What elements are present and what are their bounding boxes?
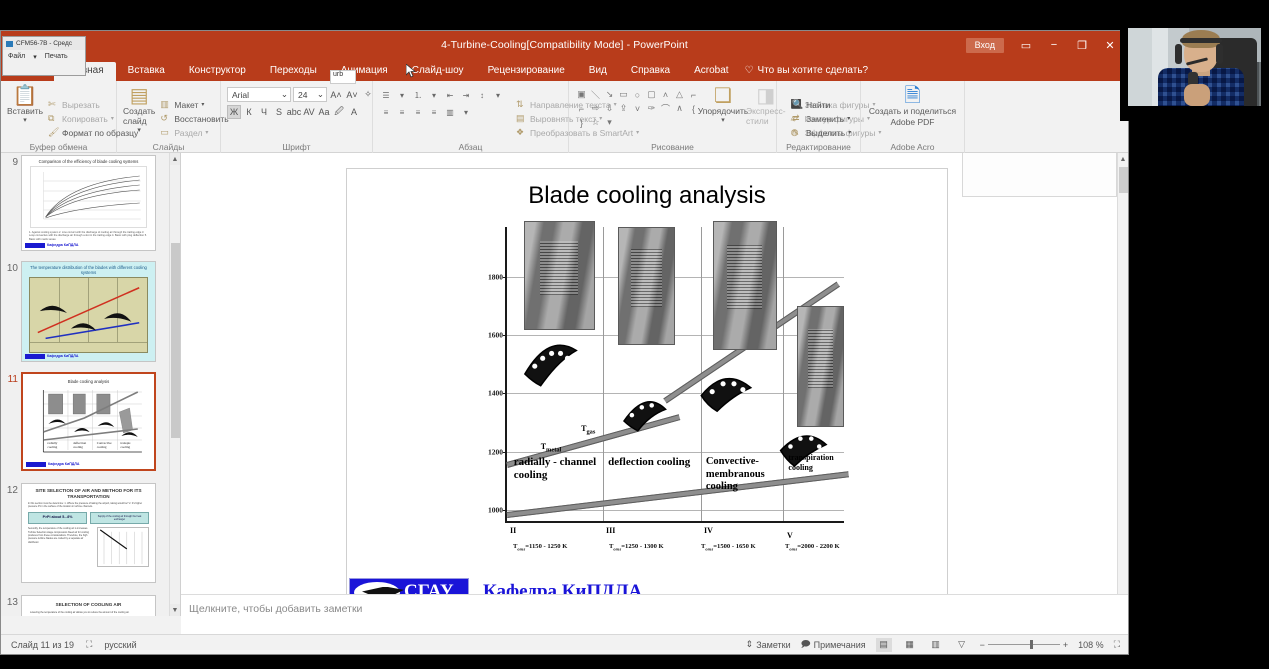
title-bar: 4-Turbine-Cooling[Compatibility Mode] - … (1, 31, 1128, 59)
align-center-icon[interactable]: ≡ (395, 106, 409, 119)
thumbnail-slide[interactable]: The temperature distribution of the blad… (21, 261, 156, 362)
floating-panel[interactable] (962, 153, 1117, 197)
change-case-button[interactable]: Aa (317, 105, 331, 119)
chevron-down-icon: ⌄ (317, 89, 324, 100)
thumbnail-footer-text: Кафедра КиПДЛА (47, 243, 78, 247)
column-heading-1: radially - channel cooling (514, 456, 602, 482)
screen: 4-Turbine-Cooling[Compatibility Mode] - … (0, 0, 1269, 669)
chevron-down-icon[interactable]: ▾ (427, 89, 441, 102)
chevron-down-icon[interactable]: ▾ (33, 53, 37, 61)
slide-editing-pane: Blade cooling analysis 1800 (181, 153, 1128, 616)
thumbnail-footer: Кафедра КиПДЛА (23, 461, 154, 469)
thumbnail-number: 10 (5, 261, 21, 274)
font-family-value: Arial (232, 90, 249, 100)
thumbnail-title: Blade cooling analysis (23, 374, 154, 386)
shape-triangle-icon[interactable]: △ (673, 88, 686, 101)
copy-label: Копировать (62, 114, 108, 124)
thumbnail-footer-text: Кафедра КиПДЛА (48, 462, 79, 466)
thumbnail-chart-icon (29, 277, 148, 353)
slide-scrollbar[interactable]: ▲ ▼ (1117, 153, 1128, 616)
tab-insert[interactable]: Вставка (116, 62, 177, 81)
powerpoint-window: 4-Turbine-Cooling[Compatibility Mode] - … (0, 30, 1129, 655)
cut-label: Вырезать (62, 100, 100, 110)
comments-button[interactable]: 🗩 Примечания (801, 637, 866, 653)
shape-rounded-rect-icon[interactable]: ▢ (645, 88, 658, 101)
x-label-temp-3: Tотл=1500 - 1650 K (701, 543, 756, 551)
chevron-down-icon: ▾ (848, 129, 851, 136)
scissors-icon: ✄ (48, 99, 59, 110)
shapes-scroll-up-icon[interactable]: ˄ (659, 88, 672, 101)
slide-sorter-view-button[interactable]: ▦ (902, 638, 918, 652)
paste-label: Вставить (7, 106, 43, 116)
svg-text:cooling: cooling (73, 445, 83, 449)
reading-view-button[interactable]: ▥ (928, 638, 944, 652)
new-slide-label: Создать слайд (123, 106, 155, 126)
find-label: Найти (806, 100, 830, 110)
svg-text:cooling: cooling (97, 445, 107, 449)
thumbnail-slide-current[interactable]: Blade cooling analysis (21, 372, 156, 471)
sign-in-button[interactable]: Вход (966, 38, 1004, 53)
mouse-cursor (406, 64, 416, 78)
chevron-down-icon[interactable]: ▾ (459, 106, 473, 119)
chevron-down-icon[interactable]: ▾ (491, 89, 505, 102)
current-slide[interactable]: Blade cooling analysis 1800 (347, 169, 947, 616)
adobe-pdf-icon: 🗎 (904, 86, 920, 106)
zoom-track[interactable] (988, 644, 1060, 645)
chevron-down-icon: ▾ (137, 126, 141, 134)
normal-view-button[interactable]: ▤ (876, 638, 892, 652)
shapes-more-icon[interactable]: ▾ (603, 116, 616, 129)
thumbnail-number: 9 (5, 155, 21, 168)
chevron-down-icon[interactable]: ▾ (395, 89, 409, 102)
shape-arrow-curve-icon[interactable]: ⇪ (617, 102, 630, 115)
x-tick-roman-4: IV (704, 526, 713, 535)
background-window-menu: Файл ▾ Печать (3, 50, 85, 61)
font-color-icon[interactable]: A (347, 105, 361, 119)
quick-styles-icon: ◨ (756, 86, 775, 106)
thumbnail-highlight-2: Supply of the cooling air through the he… (90, 512, 149, 524)
headset-earcup-right (1216, 44, 1223, 64)
chevron-down-icon: ▾ (721, 116, 725, 124)
ribbon-group-adobe: 🗎 Создать и поделиться Adobe PDF Adobe A… (861, 81, 965, 153)
thumbnail-item-12[interactable]: 12 SITE SELECTION OF AIR AND METHOD FOR … (1, 477, 180, 583)
increase-font-size-icon[interactable]: A˄ (329, 88, 343, 102)
thumbnail-item-13[interactable]: 13 SELECTION OF COOLING AIR Lowering the… (1, 589, 180, 616)
group-label-font: Шрифт (221, 142, 372, 152)
background-window-title-bar: CFM56-7B - Средс (3, 37, 85, 50)
scroll-down-icon[interactable]: ▼ (170, 604, 180, 616)
shape-arrow-icon[interactable]: ↘ (603, 88, 616, 101)
column-heading-4: transpiration cooling (788, 453, 845, 472)
thumbnail-logo-icon (26, 462, 46, 467)
thumbnail-item-10[interactable]: 10 The temperature distribution of the b… (1, 255, 180, 362)
tab-acrobat[interactable]: Acrobat (682, 62, 740, 81)
thumbnail-logo-icon (25, 243, 45, 248)
x-tick-roman-2: II (510, 526, 516, 535)
italic-button[interactable]: К (242, 105, 256, 119)
replace-label: Заменить (806, 114, 844, 124)
layout-label: Макет (174, 100, 198, 110)
replace-button[interactable]: ⇄ Заменить ▾ (789, 112, 854, 125)
scrollbar-thumb[interactable] (171, 243, 180, 438)
paintbrush-icon: 🖌 (48, 127, 59, 138)
ribbon-group-font: Arial ⌄ 24 ⌄ A˄ A˅ ✧ Ж К (221, 81, 373, 153)
align-right-icon[interactable]: ≡ (411, 106, 425, 119)
y-tick-label: 1400 (488, 389, 503, 398)
thumbnail-item-9[interactable]: 9 Comparison of the efficiency of blade … (1, 153, 180, 251)
search-icon: 🔍 (792, 99, 803, 110)
thumbnail-footer: Кафедра КиПДЛА (22, 242, 155, 250)
numbering-icon[interactable]: ⒈ (411, 89, 425, 102)
thumbnail-diagram-icon (97, 527, 149, 567)
ribbon-group-paragraph: ☰ ▾ ⒈ ▾ ⇤ ⇥ ↕ ▾ ≡ ≡ ≡ ≡ ▥ (373, 81, 569, 153)
copy-icon: ⧉ (48, 113, 59, 124)
create-share-pdf-label: Создать и поделиться Adobe PDF (867, 106, 958, 127)
y-tick-label: 1600 (488, 331, 503, 340)
x-tick-roman-3: III (606, 526, 615, 535)
align-left-icon[interactable]: ≡ (379, 106, 393, 119)
group-label-adobe: Adobe Acro (861, 142, 964, 152)
restore-icon[interactable]: ❐ (1068, 34, 1096, 56)
font-size-value: 24 (298, 90, 307, 100)
webcam-overlay[interactable] (1120, 0, 1269, 121)
thumbnail-slide[interactable]: Comparison of the efficiency of blade co… (21, 155, 156, 251)
tell-me-box[interactable]: ♡ Что вы хотите сделать? (741, 62, 877, 81)
blade-cooling-chart[interactable]: 1800 1600 1400 1200 1000 800 (469, 227, 844, 557)
thumbnail-title: The temperature distribution of the blad… (22, 262, 155, 277)
text-direction-icon: ⇅ (516, 99, 527, 110)
shape-line-icon[interactable]: ＼ (589, 88, 602, 101)
ribbon-group-slides: ▤ Создать слайд ▾ ▥ Макет ▾ ↺ Восстанови… (117, 81, 221, 153)
shape-arrow-right-icon[interactable]: ⇨ (589, 102, 602, 115)
section-icon: ▭ (160, 127, 171, 138)
y-tick-label: 1000 (488, 505, 503, 514)
app-icon (6, 41, 13, 47)
x-label-temp-1: Tотл=1150 - 1250 K (513, 543, 567, 551)
tell-me-label: Что вы хотите сделать? (758, 65, 869, 76)
shape-star-icon[interactable]: ☆ (589, 116, 602, 129)
zoom-out-button[interactable]: − (980, 640, 985, 650)
column-heading-3: Convective-membranous cooling (706, 456, 787, 493)
shape-freeform-icon[interactable]: ✑ (645, 102, 658, 115)
thumbnail-number: 13 (5, 595, 21, 608)
thumbnail-scrollbar[interactable]: ▲ ▼ (169, 153, 180, 616)
background-window[interactable]: CFM56-7B - Средс Файл ▾ Печать (2, 36, 86, 76)
shadow-button[interactable]: S (272, 105, 286, 119)
thumbnail-title: SELECTION OF COOLING AIR (22, 596, 155, 609)
comment-icon: 🗩 (801, 637, 811, 653)
chevron-down-icon: ▾ (205, 129, 208, 136)
group-label-slides: Слайды (117, 142, 220, 152)
reset-icon: ↺ (160, 113, 171, 124)
shapes-scroll-down-icon[interactable]: ˅ (631, 102, 644, 115)
group-label-clipboard: Буфер обмена (1, 142, 116, 152)
shape-oval-icon[interactable]: ○ (631, 88, 644, 101)
menu-print[interactable]: Печать (45, 53, 68, 61)
thumbnail-item-11[interactable]: 11 Blade cooling analysis (1, 366, 180, 471)
group-label-drawing: Рисование (569, 142, 776, 152)
chevron-down-icon: ⌄ (281, 89, 288, 100)
select-label: Выделить (806, 128, 845, 138)
chevron-down-icon: ▾ (111, 115, 114, 122)
chevron-down-icon: ▾ (23, 116, 27, 124)
decrease-indent-icon[interactable]: ⇤ (443, 89, 457, 102)
svg-text:cooling: cooling (47, 445, 57, 449)
thumbnail-title: SITE SELECTION OF AIR AND METHOD FOR ITS… (22, 484, 155, 501)
minimize-icon[interactable]: − (1040, 34, 1068, 56)
ribbon-group-clipboard: 📋 Вставить ▾ ✄ Вырезать ⧉ Копировать ▾ (1, 81, 117, 153)
window-title: 4-Turbine-Cooling[Compatibility Mode] - … (1, 39, 1128, 51)
fit-slide-icon[interactable]: ⛶ (1114, 639, 1120, 650)
ribbon-group-drawing: ▣ ＼ ↘ ▭ ○ ▢ ˄ △ ⌐ ⌐ ⇨ ⇩ ⇪ ˅ ✑ ⌒ ∧ (569, 81, 777, 153)
y-tick-label: 1800 (488, 272, 503, 281)
shape-elbow2-icon[interactable]: ⌐ (575, 102, 588, 115)
select-button[interactable]: ↖ Выделить ▾ (789, 126, 854, 139)
group-label-paragraph: Абзац (373, 142, 568, 152)
slide-thumbnail-pane[interactable]: 9 Comparison of the efficiency of blade … (1, 153, 181, 616)
ribbon-group-editing: 🔍 Найти ⇄ Заменить ▾ ↖ Выделить ▾ Редакт… (777, 81, 861, 153)
thumbnail-number: 12 (5, 483, 21, 496)
shape-brace-right-icon[interactable]: } (575, 116, 588, 129)
smartart-icon: ❖ (516, 127, 527, 138)
scroll-up-icon[interactable]: ▲ (170, 153, 180, 165)
ribbon-display-options-icon[interactable]: ▭ (1012, 34, 1040, 56)
headset-earcup-left (1175, 44, 1182, 64)
bullets-icon[interactable]: ☰ (379, 89, 393, 102)
zoom-slider[interactable]: − + (980, 640, 1069, 650)
svg-text:cooling: cooling (120, 445, 130, 449)
shape-arc-icon[interactable]: ∧ (673, 102, 686, 115)
replace-icon: ⇄ (792, 113, 803, 124)
notes-icon: ⇕ (746, 639, 754, 650)
scrollbar-thumb[interactable] (1119, 167, 1128, 193)
editor-body: 9 Comparison of the efficiency of blade … (1, 153, 1128, 616)
thumbnail-chart-icon: radiallycooling deflectioncooling Convec… (31, 388, 146, 461)
decrease-font-size-icon[interactable]: A˅ (345, 88, 359, 102)
paste-icon: 📋 (13, 86, 38, 106)
thumbnail-number: 11 (5, 372, 21, 385)
slideshow-view-button[interactable]: ▽ (954, 638, 970, 652)
new-slide-icon: ▤ (130, 86, 149, 106)
slide-title[interactable]: Blade cooling analysis (347, 169, 947, 210)
shape-textbox-icon[interactable]: ▣ (575, 88, 588, 101)
arrange-label: Упорядочить (698, 106, 749, 116)
webcam-video (1128, 28, 1261, 106)
text-highlight-icon[interactable]: 🖉 (332, 105, 346, 119)
increase-indent-icon[interactable]: ⇥ (459, 89, 473, 102)
shape-arrow-down-icon[interactable]: ⇩ (603, 102, 616, 115)
zoom-in-button[interactable]: + (1063, 640, 1068, 650)
lightbulb-icon: ♡ (745, 65, 754, 76)
thumbnail-title: Comparison of the efficiency of blade co… (22, 156, 155, 166)
background-window-title: CFM56-7B - Средс (16, 40, 72, 47)
select-cursor-icon: ↖ (792, 127, 803, 138)
notes-button[interactable]: ⇕ Заметки (746, 639, 791, 650)
y-tick-label: 1200 (488, 447, 503, 456)
x-label-temp-4: Tотл=2000 - 2200 K (785, 543, 840, 551)
thumbnail-highlight-1: P>PI about 5...8% (28, 512, 87, 524)
shape-rectangle-icon[interactable]: ▭ (617, 88, 630, 101)
status-bar: Слайд 11 из 19 ⛶ русский ⇕ Заметки 🗩 При… (1, 634, 1128, 654)
x-label-temp-2: Tотл=1250 - 1300 K (609, 543, 664, 551)
find-button[interactable]: 🔍 Найти (789, 98, 854, 111)
zoom-handle[interactable] (1030, 640, 1033, 649)
font-size-select[interactable]: 24 ⌄ (293, 87, 327, 102)
thumbnail-slide[interactable]: SITE SELECTION OF AIR AND METHOD FOR ITS… (21, 483, 156, 583)
column-heading-2: deflection cooling (608, 456, 696, 469)
headset-band (1180, 38, 1222, 43)
window-controls: Вход ▭ − ❐ ✕ (966, 34, 1124, 56)
notes-label: Заметки (756, 640, 790, 650)
thumbnail-footer-text: Кафедра КиПДЛА (47, 354, 78, 358)
layout-icon: ▥ (160, 99, 171, 110)
tab-view[interactable]: Вид (577, 62, 619, 81)
chart-plot-area: 1800 1600 1400 1200 1000 800 (505, 227, 844, 523)
arrange-icon: ❏ (714, 86, 732, 106)
tab-review[interactable]: Рецензирование (476, 62, 577, 81)
language-label[interactable]: русский (104, 640, 136, 650)
shape-elbow-icon[interactable]: ⌐ (687, 88, 700, 101)
person-hand (1184, 84, 1210, 106)
ribbon: 📋 Вставить ▾ ✄ Вырезать ⧉ Копировать ▾ (1, 81, 1128, 153)
thumbnail-slide[interactable]: SELECTION OF COOLING AIR Lowering the te… (21, 595, 156, 616)
chevron-down-icon: ▾ (201, 101, 204, 108)
thumbnail-logo-icon (25, 354, 45, 359)
strikethrough-button[interactable]: abc (287, 105, 301, 119)
slide-counter: Слайд 11 из 19 (11, 640, 74, 650)
section-label: Раздел (174, 128, 202, 138)
font-family-select[interactable]: Arial ⌄ (227, 87, 291, 102)
tab-help[interactable]: Справка (619, 62, 682, 81)
justify-icon[interactable]: ≡ (427, 106, 441, 119)
chevron-down-icon: ▾ (847, 115, 850, 122)
align-text-icon: ▤ (516, 113, 527, 124)
bold-button[interactable]: Ж (227, 105, 241, 119)
group-label-editing: Редактирование (777, 142, 860, 152)
ribbon-tabs: Файл Главная Вставка Конструктор Переход… (1, 59, 1128, 81)
accessibility-icon[interactable]: ⛶ (86, 639, 92, 650)
columns-icon[interactable]: ▥ (443, 106, 457, 119)
tab-design[interactable]: Конструктор (177, 62, 258, 81)
scroll-up-icon[interactable]: ▲ (1118, 153, 1128, 165)
thumbnail-footer: Кафедра КиПДЛА (22, 353, 155, 361)
x-tick-roman-5: V (787, 531, 793, 540)
tab-transitions[interactable]: Переходы (258, 62, 329, 81)
thumbnail-chart-icon (31, 167, 146, 227)
comments-label: Примечания (814, 640, 866, 650)
tooltip: urb (330, 70, 356, 84)
line-spacing-icon[interactable]: ↕ (475, 89, 489, 102)
shape-curve-icon[interactable]: ⌒ (659, 102, 672, 115)
underline-button[interactable]: Ч (257, 105, 271, 119)
zoom-value: 108 % (1078, 640, 1104, 650)
notes-pane[interactable]: Щелкните, чтобы добавить заметки (181, 594, 1128, 634)
menu-file[interactable]: Файл (8, 53, 25, 61)
character-spacing-button[interactable]: AV (302, 105, 316, 119)
